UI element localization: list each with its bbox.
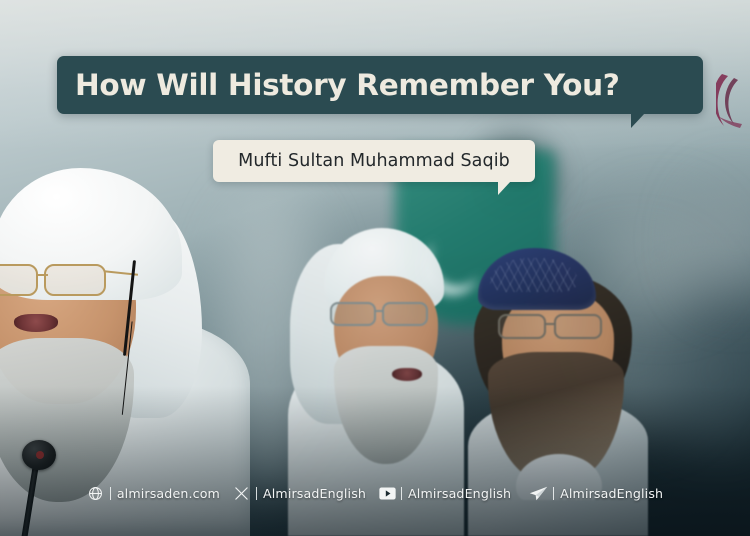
speaker-name: Mufti Sultan Muhammad Saqib (238, 151, 510, 171)
almirsad-logo (716, 72, 750, 130)
youtube-icon (379, 485, 396, 502)
mouth (392, 368, 422, 381)
page-title: How Will History Remember You? (75, 68, 620, 102)
divider (256, 487, 257, 500)
title-banner: How Will History Remember You? (57, 56, 703, 114)
mouth (14, 314, 58, 332)
speaker-banner: Mufti Sultan Muhammad Saqib (213, 140, 535, 182)
footer-link-website[interactable]: almirsaden.com (87, 485, 220, 502)
footer-link-x[interactable]: AlmirsadEnglish (233, 485, 366, 502)
footer-link-telegram[interactable]: AlmirsadEnglish (529, 485, 663, 502)
divider (401, 487, 402, 500)
globe-icon (87, 485, 104, 502)
speaker-banner-tail (498, 181, 511, 195)
footer-handle: AlmirsadEnglish (560, 486, 663, 501)
footer-link-youtube[interactable]: AlmirsadEnglish (379, 485, 511, 502)
cap-embroidery (490, 258, 578, 292)
footer-handle: AlmirsadEnglish (263, 486, 366, 501)
eyeglasses-icon (0, 264, 138, 298)
title-banner-tail (631, 113, 645, 128)
eyeglasses-icon (498, 314, 622, 340)
telegram-icon (529, 485, 548, 502)
divider (553, 487, 554, 500)
x-twitter-icon (233, 485, 250, 502)
footer-handle: almirsaden.com (117, 486, 220, 501)
footer-social-bar: almirsaden.com AlmirsadEnglish AlmirsadE… (0, 485, 750, 502)
divider (110, 487, 111, 500)
poster-card: How Will History Remember You? Mufti Sul… (0, 0, 750, 536)
eyeglasses-icon (330, 302, 446, 328)
bottom-gradient-overlay (0, 386, 750, 536)
footer-handle: AlmirsadEnglish (408, 486, 511, 501)
